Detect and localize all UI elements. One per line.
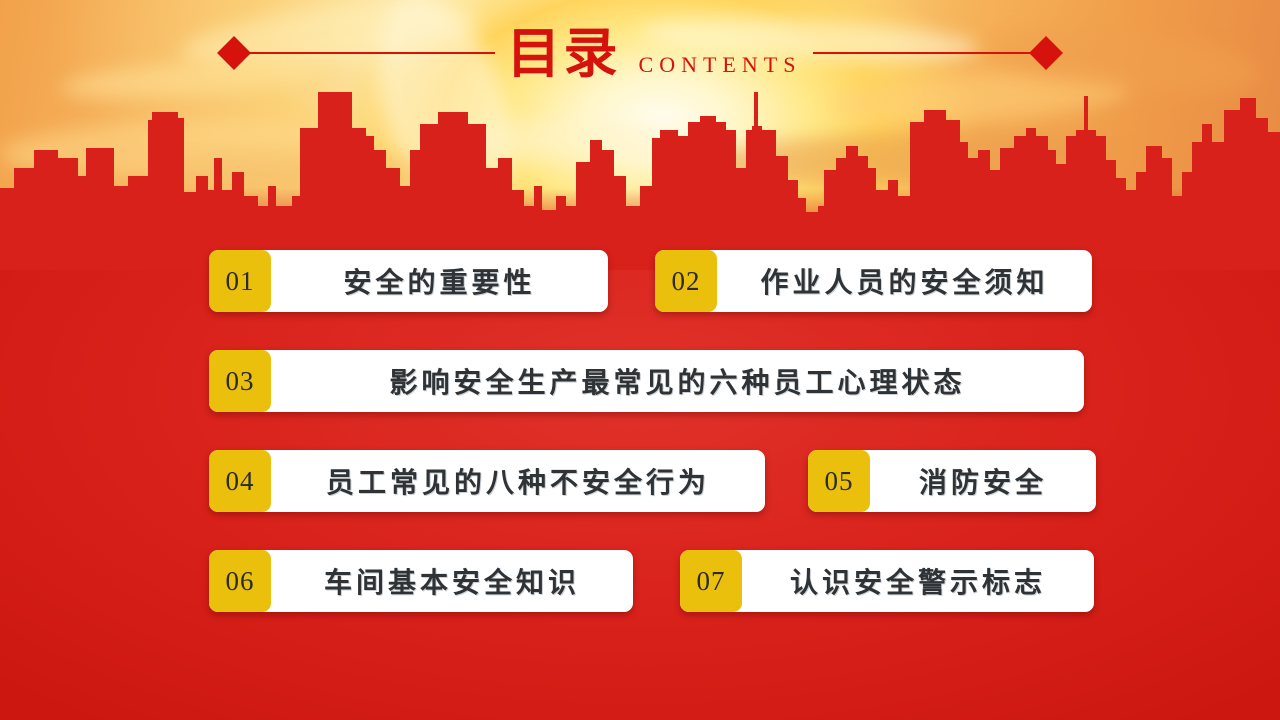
item-label: 员工常见的八种不安全行为 <box>271 450 765 512</box>
item-label: 消防安全 <box>870 450 1096 512</box>
contents-row: 03 影响安全生产最常见的六种员工心理状态 <box>209 350 1084 412</box>
item-label: 影响安全生产最常见的六种员工心理状态 <box>271 350 1084 412</box>
row-gap <box>633 550 680 612</box>
item-label: 认识安全警示标志 <box>742 550 1094 612</box>
contents-item-04[interactable]: 04 员工常见的八种不安全行为 <box>209 450 765 512</box>
item-label: 车间基本安全知识 <box>271 550 633 612</box>
item-number-badge: 01 <box>209 250 271 312</box>
contents-item-07[interactable]: 07 认识安全警示标志 <box>680 550 1094 612</box>
page-title-en: CONTENTS <box>639 54 802 76</box>
item-number-badge: 05 <box>808 450 870 512</box>
contents-row: 04 员工常见的八种不安全行为 05 消防安全 <box>209 450 1096 512</box>
diamond-right-icon <box>1029 36 1063 70</box>
header-rule-right <box>813 41 1058 65</box>
header-rule-left <box>222 41 495 65</box>
item-label: 作业人员的安全须知 <box>717 250 1092 312</box>
item-number-badge: 06 <box>209 550 271 612</box>
cloud-streak <box>699 125 1121 192</box>
contents-item-03[interactable]: 03 影响安全生产最常见的六种员工心理状态 <box>209 350 1084 412</box>
item-number-badge: 04 <box>209 450 271 512</box>
diamond-left-icon <box>217 36 251 70</box>
item-number-badge: 03 <box>209 350 271 412</box>
page-title: 目录 CONTENTS <box>495 26 814 80</box>
item-number-badge: 07 <box>680 550 742 612</box>
page-title-cn: 目录 <box>507 26 621 80</box>
contents-item-02[interactable]: 02 作业人员的安全须知 <box>655 250 1092 312</box>
item-label: 安全的重要性 <box>271 250 608 312</box>
rule-line-left <box>245 52 495 54</box>
row-gap <box>608 250 655 312</box>
slide-header: 目录 CONTENTS <box>0 10 1280 96</box>
slide-root: 目录 CONTENTS 01 安全的重要性 02 作业人员的安全须知 03 <box>0 0 1280 720</box>
contents-row: 06 车间基本安全知识 07 认识安全警示标志 <box>209 550 1094 612</box>
item-number-badge: 02 <box>655 250 717 312</box>
row-gap <box>765 450 808 512</box>
contents-row: 01 安全的重要性 02 作业人员的安全须知 <box>209 250 1092 312</box>
contents-item-01[interactable]: 01 安全的重要性 <box>209 250 608 312</box>
contents-item-06[interactable]: 06 车间基本安全知识 <box>209 550 633 612</box>
contents-item-05[interactable]: 05 消防安全 <box>808 450 1096 512</box>
rule-line-right <box>813 52 1035 54</box>
